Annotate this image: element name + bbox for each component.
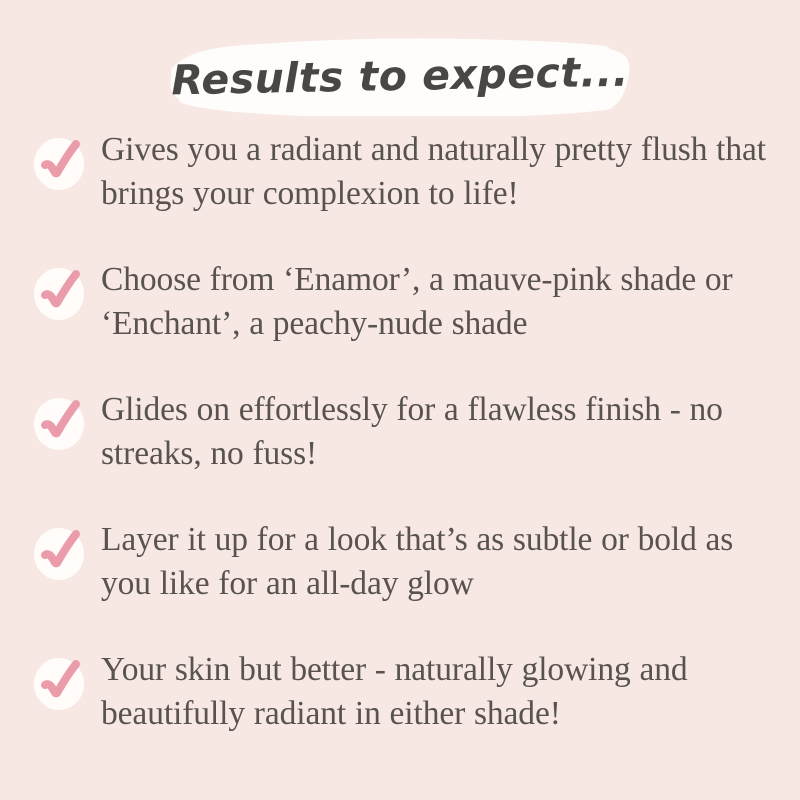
check-circle-icon xyxy=(33,396,87,450)
list-item: Gives you a radiant and naturally pretty… xyxy=(0,131,800,261)
check-circle-icon xyxy=(33,526,87,580)
list-item: Layer it up for a look that’s as subtle … xyxy=(0,521,800,651)
list-item-text: Your skin but better - naturally glowing… xyxy=(101,648,779,736)
benefits-list: Gives you a radiant and naturally pretty… xyxy=(0,131,800,781)
list-item: Your skin but better - naturally glowing… xyxy=(0,651,800,781)
check-circle-icon xyxy=(33,656,87,710)
list-item-text: Glides on effortlessly for a flawless fi… xyxy=(101,388,779,476)
list-item: Glides on effortlessly for a flawless fi… xyxy=(0,391,800,521)
results-to-expect-graphic: Results to expect... Gives you a radiant… xyxy=(0,0,800,800)
list-item: Choose from ‘Enamor’, a mauve-pink shade… xyxy=(0,261,800,391)
title-banner: Results to expect... xyxy=(168,36,632,116)
check-circle-icon xyxy=(33,266,87,320)
page-title: Results to expect... xyxy=(167,32,632,121)
list-item-text: Gives you a radiant and naturally pretty… xyxy=(101,128,779,216)
list-item-text: Layer it up for a look that’s as subtle … xyxy=(101,518,779,606)
check-circle-icon xyxy=(33,136,87,190)
list-item-text: Choose from ‘Enamor’, a mauve-pink shade… xyxy=(101,258,779,346)
